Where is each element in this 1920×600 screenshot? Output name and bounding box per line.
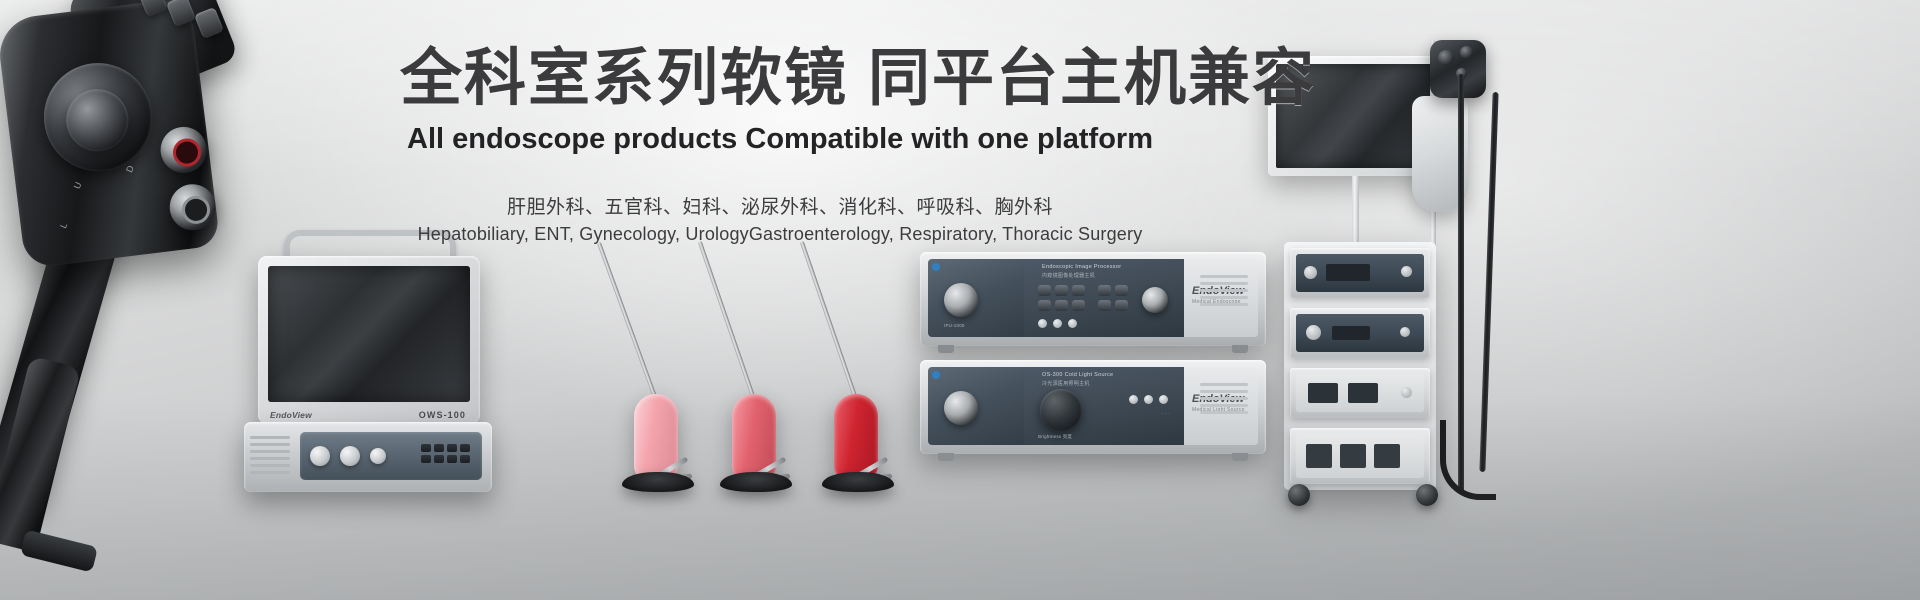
workstation-dial-2: [340, 446, 360, 466]
processor-center-panel: Endoscopic Image Processor 内窥镜图像处理器主机: [1024, 259, 1184, 337]
brightness-knob: [1040, 389, 1082, 431]
endoscope-label-u: U: [72, 180, 84, 191]
processor-aux-port: [1142, 287, 1168, 313]
processor-button-grid-secondary: [1098, 285, 1128, 311]
processor-vent: [1200, 275, 1248, 327]
cart-device-2-knob: [1306, 325, 1321, 340]
processor-indicator-leds: [1038, 319, 1077, 328]
cart-device-2: [1296, 314, 1424, 352]
cart-device-4: [1296, 434, 1424, 478]
cart-device-1-dial: [1304, 266, 1317, 279]
cart-shelf-1: [1290, 248, 1430, 298]
workstation-screen: [268, 266, 470, 402]
cart-device-4-display-3: [1374, 444, 1400, 468]
cart-shelf-3: [1290, 368, 1430, 418]
cart-device-1-led: [1401, 266, 1412, 277]
processor-button-grid: [1038, 285, 1085, 311]
light-source-vent: [1200, 383, 1248, 435]
cart-scope-cord-loop: [1440, 420, 1496, 500]
processor-subtitle: 内窥镜图像处理器主机: [1042, 272, 1095, 279]
cart-device-1-display: [1326, 264, 1370, 281]
workstation-brand-label: EndoView: [270, 410, 312, 420]
scope-stand: [822, 472, 894, 492]
cart-wheel-left: [1288, 484, 1310, 506]
cart-shelf-4: [1290, 428, 1430, 484]
processor-title: Endoscopic Image Processor: [1042, 264, 1121, 270]
cart-device-3-led: [1401, 387, 1412, 398]
cart-scope-cord-b: [1479, 92, 1498, 472]
light-source-right-panel: EndoView Medical Light Source: [1184, 367, 1258, 445]
endoscope-port-red: [158, 124, 209, 175]
light-source-unit: OS-300 Cold Light Source 冷光源医用照明主机 Brigh…: [920, 360, 1266, 454]
product-banner: U D L 全科室系列软镜同平台主机兼容 All endoscope produ…: [0, 0, 1920, 600]
workstation-model-label: OWS-100: [419, 410, 466, 420]
cart-device-2-led: [1400, 327, 1410, 337]
light-source-buttons: [1129, 395, 1168, 404]
processor-stack-image: IPU-1000 Endoscopic Image Processor 内窥镜图…: [920, 252, 1270, 452]
workstation-dial-3: [370, 448, 386, 464]
flexible-scope-red: [800, 248, 920, 488]
light-source-left-panel: [928, 367, 1024, 445]
endoscope-label-l: L: [58, 220, 70, 229]
scope-rod: [597, 242, 661, 409]
processor-status-led: [932, 263, 940, 271]
workstation-dial-1: [310, 446, 330, 466]
banner-subheadline: All endoscope products Compatible with o…: [400, 123, 1160, 156]
cart-wheel-right: [1416, 484, 1438, 506]
departments-chinese: 肝胆外科、五官科、妇科、泌尿外科、消化科、呼吸科、胸外科: [400, 192, 1160, 219]
image-processor-unit: IPU-1000 Endoscopic Image Processor 内窥镜图…: [920, 252, 1266, 346]
workstation-monitor-bezel: EndoView OWS-100: [258, 256, 480, 424]
workstation-base-unit: [244, 422, 492, 492]
light-source-foot-left: [938, 453, 954, 461]
cart-device-3-display: [1308, 383, 1338, 403]
workstation-image: EndoView OWS-100: [232, 248, 502, 498]
light-source-fiber-port: [944, 391, 978, 425]
headline-part-2: 同平台主机兼容: [868, 44, 1316, 113]
workstation-vent: [250, 436, 290, 478]
cart-device-4-display-2: [1340, 444, 1366, 468]
endoscopy-cart-image: [1290, 40, 1520, 540]
cart-device-3-display-2: [1348, 383, 1378, 403]
cart-device-2-display: [1332, 326, 1370, 340]
cart-device-1: [1296, 254, 1424, 292]
processor-foot-right: [1232, 345, 1248, 353]
light-source-button-labels: · · ·: [1162, 411, 1170, 416]
endoscope-control-body: U D L: [0, 0, 221, 269]
processor-front-face: IPU-1000 Endoscopic Image Processor 内窥镜图…: [928, 259, 1258, 337]
processor-foot-left: [938, 345, 954, 353]
light-source-status-led: [932, 371, 940, 379]
light-source-center-panel: OS-300 Cold Light Source 冷光源医用照明主机 Brigh…: [1024, 367, 1184, 445]
endoscope-tip: [20, 529, 98, 572]
processor-port-label: IPU-1000: [944, 323, 965, 328]
brightness-knob-label: Brightness 亮度: [1038, 434, 1072, 440]
endoscope-port-grey: [167, 182, 218, 233]
cart-device-4-display: [1306, 444, 1332, 468]
workstation-keypad: [421, 444, 470, 463]
banner-headline: 全科室系列软镜同平台主机兼容: [400, 46, 1160, 113]
scope-stand: [622, 472, 694, 492]
cart-device-3: [1296, 374, 1424, 412]
processor-left-panel: IPU-1000: [928, 259, 1024, 337]
light-source-title: OS-300 Cold Light Source: [1042, 372, 1113, 378]
scope-rod: [698, 241, 759, 409]
cart-monitor-neck: [1352, 176, 1359, 250]
endoscope-label-d: D: [124, 163, 136, 174]
scope-rod: [800, 241, 861, 409]
processor-scope-port: [944, 283, 978, 317]
workstation-control-panel: [300, 432, 482, 480]
banner-text-block: 全科室系列软镜同平台主机兼容 All endoscope products Co…: [400, 46, 1160, 245]
scope-stand: [720, 472, 792, 492]
light-source-foot-right: [1232, 453, 1248, 461]
headline-part-1: 全科室系列软镜: [400, 44, 848, 113]
departments-english: Hepatobiliary, ENT, Gynecology, UrologyG…: [400, 224, 1160, 245]
cart-frame: [1284, 242, 1436, 490]
processor-right-panel: EndoView Medical Endoscope: [1184, 259, 1258, 337]
light-source-subtitle: 冷光源医用照明主机: [1042, 380, 1090, 387]
light-source-front-face: OS-300 Cold Light Source 冷光源医用照明主机 Brigh…: [928, 367, 1258, 445]
cart-shelf-2: [1290, 308, 1430, 358]
